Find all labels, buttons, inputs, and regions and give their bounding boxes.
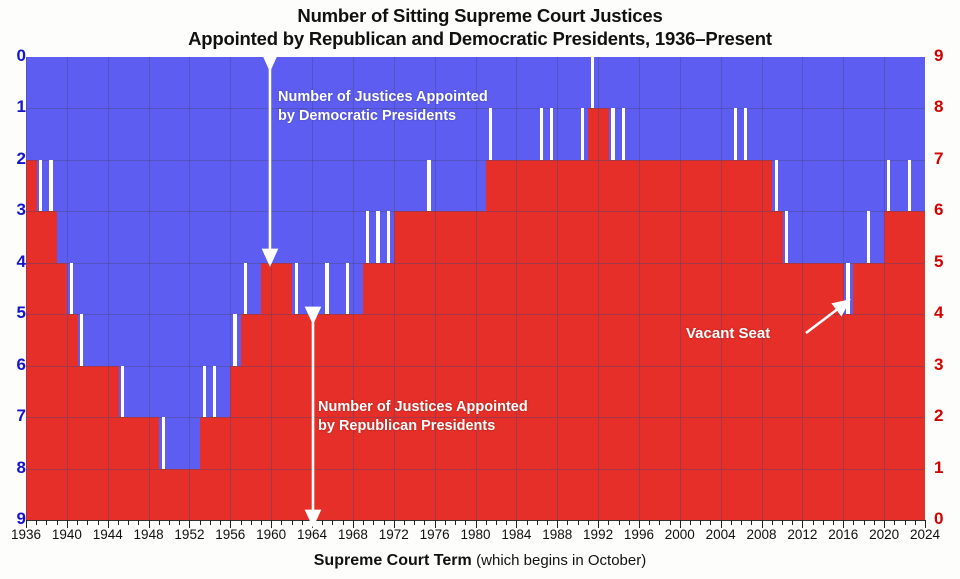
x-tickmark-2003	[710, 520, 711, 525]
plot-area	[26, 57, 925, 520]
annotation-republican-line2: by Republican Presidents	[318, 417, 528, 436]
y-left-tick-5: 5	[4, 303, 26, 323]
vacant-seat-1965	[325, 263, 328, 314]
y-right-tick-2: 2	[934, 406, 956, 426]
x-tickmark-1975	[424, 520, 425, 525]
vacant-seat-1937	[39, 160, 42, 211]
x-tickmark-1953	[200, 520, 201, 525]
x-tickmark-1957	[241, 520, 242, 525]
vacant-seat-1956	[233, 314, 236, 365]
x-tickmark-1991	[588, 520, 589, 525]
x-tickmark-2022	[905, 520, 906, 525]
y-left-tick-1: 1	[4, 97, 26, 117]
y-left-tick-7: 7	[4, 406, 26, 426]
x-axis-title-bold: Supreme Court Term	[314, 552, 472, 569]
vacant-seat-1986	[540, 108, 543, 159]
vacant-seat-1967	[346, 263, 349, 314]
vacant-seat-2022	[908, 160, 911, 211]
x-tickmark-2005	[731, 520, 732, 525]
x-tickmark-1942	[87, 520, 88, 525]
chart-title-line2: Appointed by Republican and Democratic P…	[0, 27, 960, 50]
x-tickmark-1974	[414, 520, 415, 525]
x-tickmark-1961	[281, 520, 282, 525]
vacant-seat-1938	[49, 160, 52, 211]
x-tickmark-1965	[322, 520, 323, 525]
vacant-seat-1969	[366, 211, 369, 262]
vacant-seat-1975	[427, 160, 430, 211]
x-tickmark-1997	[649, 520, 650, 525]
x-tickmark-2015	[833, 520, 834, 525]
annotation-republican: Number of Justices Appointed by Republic…	[318, 398, 528, 436]
x-tickmark-1994	[619, 520, 620, 525]
x-tickmark-1970	[373, 520, 374, 525]
x-tickmark-2021	[894, 520, 895, 525]
vacant-seat-2016	[846, 263, 849, 314]
x-tickmark-2009	[772, 520, 773, 525]
x-tickmark-1950	[169, 520, 170, 525]
x-tickmark-1955	[220, 520, 221, 525]
x-tickmark-1945	[118, 520, 119, 525]
vacant-seat-2010	[785, 211, 788, 262]
x-tickmark-1962	[292, 520, 293, 525]
vacant-seat-top-1991	[591, 57, 594, 108]
x-tick-label-2024: 2024	[901, 527, 949, 542]
x-tickmark-1973	[404, 520, 405, 525]
vacant-seat-1990	[581, 108, 584, 159]
annotation-vacant-seat: Vacant Seat	[686, 324, 770, 343]
vacant-seat-1953	[203, 366, 206, 417]
x-tickmark-1969	[363, 520, 364, 525]
vacant-seat-1971	[387, 211, 390, 262]
x-tickmark-2013	[813, 520, 814, 525]
x-tickmark-2023	[915, 520, 916, 525]
x-tickmark-2002	[700, 520, 701, 525]
chart-title: Number of Sitting Supreme Court Justices…	[0, 4, 960, 50]
annotation-republican-line1: Number of Justices Appointed	[318, 398, 528, 417]
vacant-seat-1949	[162, 417, 165, 468]
x-tickmark-1990	[578, 520, 579, 525]
x-tickmark-1954	[210, 520, 211, 525]
chart-title-line1: Number of Sitting Supreme Court Justices	[297, 5, 662, 26]
x-tickmark-1999	[670, 520, 671, 525]
x-tickmark-1937	[36, 520, 37, 525]
x-axis-title-sub: (which begins in October)	[476, 552, 646, 569]
x-tickmark-1971	[384, 520, 385, 525]
y-left-tick-3: 3	[4, 200, 26, 220]
x-tickmark-1949	[159, 520, 160, 525]
y-right-tick-9: 9	[934, 46, 956, 66]
vacant-seat-1970	[376, 211, 379, 262]
x-tickmark-1985	[527, 520, 528, 525]
x-tickmark-2010	[782, 520, 783, 525]
vacant-seat-markers	[26, 57, 925, 520]
x-tickmark-1967	[343, 520, 344, 525]
x-tickmark-1959	[261, 520, 262, 525]
x-tickmark-1951	[179, 520, 180, 525]
x-tickmark-1963	[302, 520, 303, 525]
x-tickmark-1979	[465, 520, 466, 525]
x-tickmark-1986	[537, 520, 538, 525]
y-right-tick-4: 4	[934, 303, 956, 323]
x-tickmark-2011	[792, 520, 793, 525]
x-tickmark-1966	[332, 520, 333, 525]
y-left-tick-8: 8	[4, 458, 26, 478]
x-tickmark-2001	[690, 520, 691, 525]
y-right-tick-8: 8	[934, 97, 956, 117]
x-tickmark-1958	[251, 520, 252, 525]
y-left-tick-9: 9	[4, 509, 26, 529]
x-tickmark-1995	[629, 520, 630, 525]
x-tickmark-1978	[455, 520, 456, 525]
y-right-tick-3: 3	[934, 355, 956, 375]
vacant-seat-1941	[80, 314, 83, 365]
vacant-seat-1987	[550, 108, 553, 159]
vacant-seat-2006	[744, 108, 747, 159]
x-tickmark-1983	[506, 520, 507, 525]
vacant-seat-2018	[867, 211, 870, 262]
vacant-seat-1994	[622, 108, 625, 159]
vacant-seat-2020	[887, 160, 890, 211]
x-tickmark-1977	[445, 520, 446, 525]
y-right-tick-6: 6	[934, 200, 956, 220]
y-left-tick-6: 6	[4, 355, 26, 375]
x-tickmark-2006	[741, 520, 742, 525]
y-left-tick-0: 0	[4, 46, 26, 66]
x-tickmark-1998	[659, 520, 660, 525]
vacant-seat-1945	[121, 366, 124, 417]
annotation-democratic-line1: Number of Justices Appointed	[278, 88, 488, 107]
x-tickmark-1943	[98, 520, 99, 525]
vacant-seat-1954	[213, 366, 216, 417]
vacant-seat-1940	[70, 263, 73, 314]
vacant-seat-2005	[734, 108, 737, 159]
y-left-tick-2: 2	[4, 149, 26, 169]
y-right-tick-1: 1	[934, 458, 956, 478]
annotation-democratic: Number of Justices Appointed by Democrat…	[278, 88, 488, 126]
x-tickmark-1946	[128, 520, 129, 525]
x-tickmark-1982	[496, 520, 497, 525]
vacant-seat-1957	[244, 263, 247, 314]
x-tickmark-2017	[853, 520, 854, 525]
x-tickmark-1938	[46, 520, 47, 525]
x-tickmark-1981	[486, 520, 487, 525]
y-left-tick-4: 4	[4, 252, 26, 272]
x-tickmark-2007	[751, 520, 752, 525]
vacant-seat-1962	[295, 263, 298, 314]
x-tickmark-2019	[874, 520, 875, 525]
y-right-tick-0: 0	[934, 509, 956, 529]
x-tickmark-1941	[77, 520, 78, 525]
vacant-seat-1993	[611, 108, 614, 159]
x-axis-title: Supreme Court Term (which begins in Octo…	[0, 552, 960, 570]
x-tickmark-1987	[547, 520, 548, 525]
x-tickmark-2018	[864, 520, 865, 525]
y-right-tick-5: 5	[934, 252, 956, 272]
annotation-democratic-line2: by Democratic Presidents	[278, 107, 488, 126]
vacant-seat-1981	[489, 108, 492, 159]
x-tickmark-1993	[608, 520, 609, 525]
y-right-tick-7: 7	[934, 149, 956, 169]
vacant-seat-2009	[775, 160, 778, 211]
x-tickmark-1947	[138, 520, 139, 525]
x-tickmark-1989	[567, 520, 568, 525]
x-tickmark-1939	[57, 520, 58, 525]
x-tickmark-2014	[823, 520, 824, 525]
chart-page: Number of Sitting Supreme Court Justices…	[0, 0, 960, 579]
